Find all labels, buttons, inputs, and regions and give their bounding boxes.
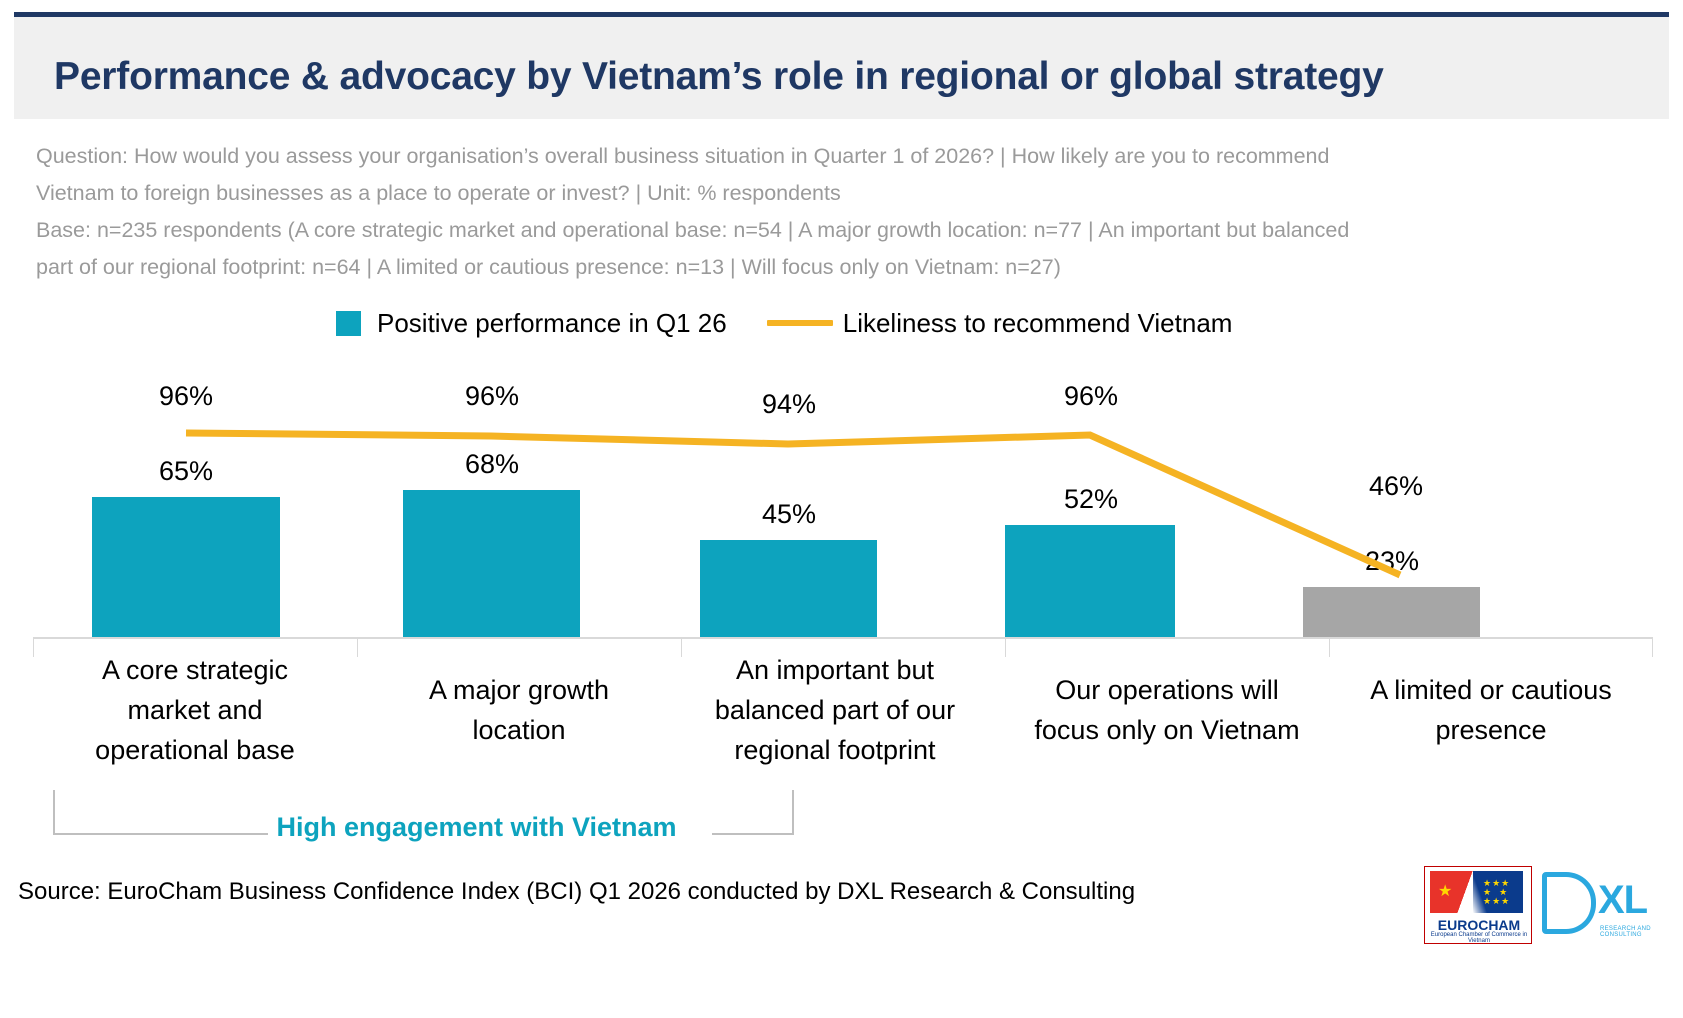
line-value-1: 96% [402,381,582,412]
category-label-4-line-1: presence [1329,710,1653,750]
plot-area: 65% 68% 45% 52% 23% 96% 96% 94% 96% 46% [0,360,1683,650]
category-label-0: A core strategic market and operational … [33,650,357,770]
question-base-block: Question: How would you assess your orga… [36,138,1656,286]
category-label-3-line-0: Our operations will [1005,670,1329,710]
category-label-2-line-1: balanced part of our [665,690,1005,730]
question-line-1: Question: How would you assess your orga… [36,138,1656,175]
question-line-4: part of our regional footprint: n=64 | A… [36,249,1656,286]
category-label-2-line-0: An important but [665,650,1005,690]
line-value-0: 96% [96,381,276,412]
source-note: Source: EuroCham Business Confidence Ind… [18,878,1135,906]
category-label-2-line-2: regional footprint [665,730,1005,770]
x-axis-tick-1 [357,639,358,657]
title-band: Performance & advocacy by Vietnam’s role… [14,17,1669,119]
category-label-4-line-0: A limited or cautious [1329,670,1653,710]
line-value-2: 94% [699,389,879,420]
eurocham-tagline: European Chamber of Commerce in Vietnam [1425,932,1533,944]
category-label-0-line-0: A core strategic [33,650,357,690]
dxl-d-letter-icon [1542,872,1596,934]
category-label-1-line-0: A major growth [357,670,681,710]
bracket-annotation-label: High engagement with Vietnam [0,812,1683,843]
question-line-2: Vietnam to foreign businesses as a place… [36,175,1656,212]
category-label-4: A limited or cautious presence [1329,670,1653,750]
eu-stars-icon: ★★★★ ★★★★ [1483,879,1510,906]
x-axis-tick-5 [1652,639,1653,657]
chart-page: Performance & advocacy by Vietnam’s role… [0,0,1683,1018]
category-label-1-line-1: location [357,710,681,750]
legend-line-label: Likeliness to recommend Vietnam [843,308,1233,339]
category-label-0-line-1: market and [33,690,357,730]
dxl-wordmark: XL [1598,878,1647,923]
page-title: Performance & advocacy by Vietnam’s role… [54,55,1674,99]
x-axis-tick-3 [1005,639,1006,657]
dxl-logo: XL RESEARCH AND CONSULTING [1542,870,1662,942]
line-value-3: 96% [1001,381,1181,412]
category-label-2: An important but balanced part of our re… [665,650,1005,770]
legend-bar-swatch-icon [336,311,361,336]
question-line-3: Base: n=235 respondents (A core strategi… [36,212,1656,249]
category-label-0-line-2: operational base [33,730,357,770]
bracket-annotation-text: High engagement with Vietnam [276,812,676,843]
vietnam-star-icon: ★ [1438,884,1452,900]
legend-line-swatch-icon [767,320,833,326]
legend-bar-label: Positive performance in Q1 26 [377,308,727,339]
chart-legend: Positive performance in Q1 26 Likeliness… [336,306,1232,340]
x-axis-tick-4 [1329,639,1330,657]
dxl-tagline: RESEARCH AND CONSULTING [1600,926,1662,938]
logo-group: ★ ★★★★ ★★★★ EUROCHAM European Chamber of… [1424,866,1664,946]
category-label-1: A major growth location [357,670,681,750]
eurocham-wordmark: EUROCHAM [1425,917,1533,933]
category-label-3-line-1: focus only on Vietnam [1005,710,1329,750]
line-value-4: 46% [1306,471,1486,502]
x-axis-line [33,637,1653,639]
category-label-3: Our operations will focus only on Vietna… [1005,670,1329,750]
eurocham-logo: ★ ★★★★ ★★★★ EUROCHAM European Chamber of… [1424,866,1532,944]
